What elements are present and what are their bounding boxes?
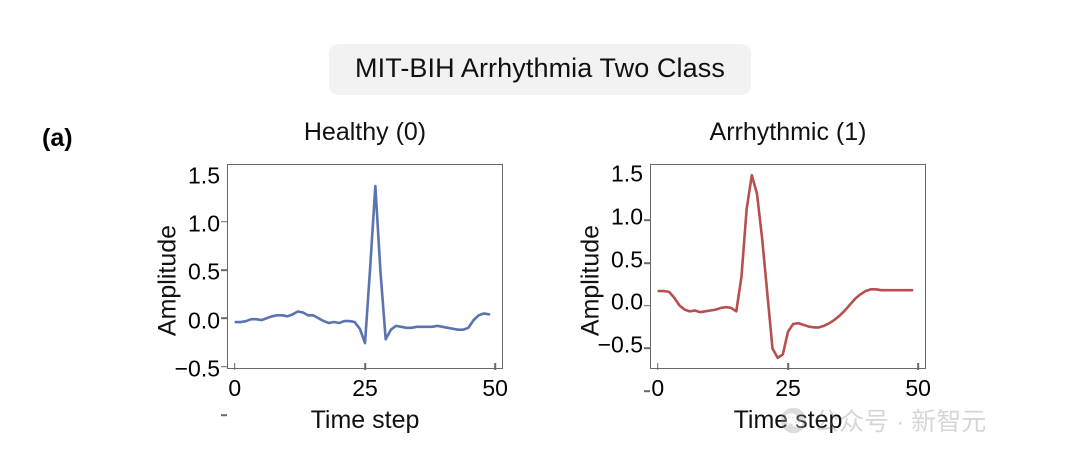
x-tick-label: 50 bbox=[905, 375, 931, 402]
panel-label: (a) bbox=[42, 124, 73, 153]
data-line-healthy bbox=[236, 186, 489, 343]
x-tick-mark bbox=[234, 363, 236, 370]
x-tick-mark bbox=[787, 363, 789, 370]
x-tick-mark bbox=[917, 363, 919, 370]
y-tick-marks-healthy bbox=[120, 164, 230, 369]
x-tick-label: 0 bbox=[228, 375, 241, 402]
x-axis-label-arrhythmic: Time step bbox=[618, 406, 958, 435]
x-tick-label: 0 bbox=[651, 375, 664, 402]
figure-title-banner: MIT-BIH Arrhythmia Two Class bbox=[0, 44, 1080, 95]
line-chart-arrhythmic bbox=[651, 165, 925, 368]
plot-area-arrhythmic bbox=[650, 164, 926, 369]
x-axis-label-healthy: Time step bbox=[195, 406, 535, 435]
x-tick-label: 50 bbox=[482, 375, 508, 402]
plot-area-healthy bbox=[227, 164, 503, 369]
figure-title: MIT-BIH Arrhythmia Two Class bbox=[329, 44, 751, 95]
x-tick-label: 25 bbox=[352, 375, 378, 402]
x-tick-mark bbox=[364, 363, 366, 370]
x-tick-label: 25 bbox=[775, 375, 801, 402]
y-tick-marks-arrhythmic bbox=[543, 164, 653, 369]
x-tick-labels-healthy: 02550 bbox=[227, 371, 503, 405]
subplot-title-arrhythmic: Arrhythmic (1) bbox=[648, 118, 928, 147]
x-tick-labels-arrhythmic: 02550 bbox=[650, 371, 926, 405]
line-chart-healthy bbox=[228, 165, 502, 368]
x-tick-mark bbox=[657, 363, 659, 370]
subplot-title-healthy: Healthy (0) bbox=[225, 118, 505, 147]
x-tick-mark bbox=[494, 363, 496, 370]
data-line-arrhythmic bbox=[659, 175, 912, 358]
